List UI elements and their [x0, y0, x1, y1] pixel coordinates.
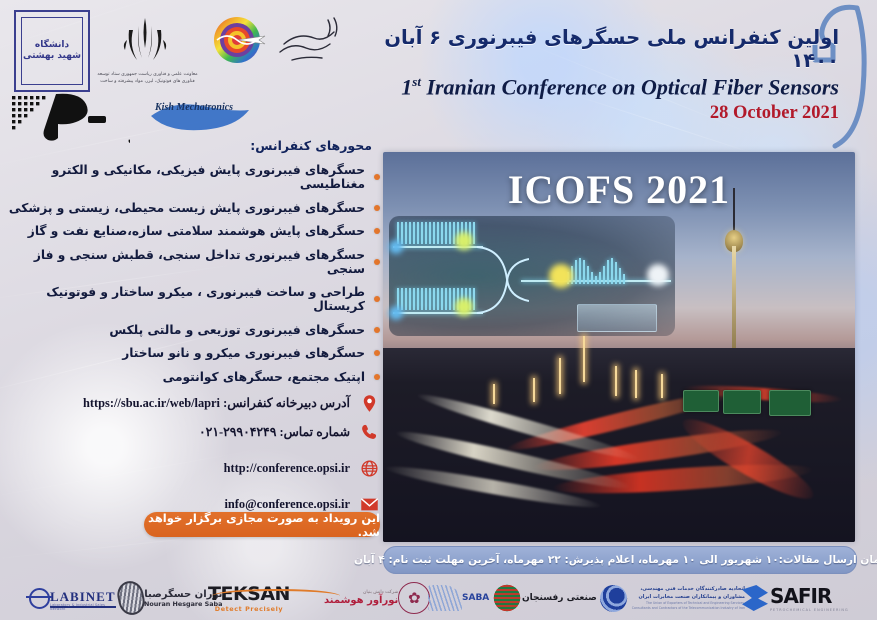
- light-glow-4: [647, 264, 669, 286]
- streetlamp: [533, 378, 535, 402]
- highway-sign: [769, 390, 811, 416]
- saba-name: SABA: [462, 593, 489, 603]
- topic-item: حسگرهای فیبرنوری پایش فیزیکی، مکانیکی و …: [8, 163, 380, 191]
- sponsor-labinet: LABINET Laboratory & Industrial Sales Ne…: [28, 576, 116, 620]
- contacts-list: آدرس دبیرخانه کنفرانس: https://sbu.ac.ir…: [8, 392, 380, 515]
- title-ordinal-number: 1: [401, 74, 412, 99]
- topic-bullet-icon: [374, 327, 380, 333]
- streetlamp: [559, 358, 561, 394]
- light-glow-3: [549, 264, 573, 288]
- topic-label: اپتیک مجتمع، حسگرهای کوانتومی: [163, 370, 365, 384]
- contact-row[interactable]: http://conference.opsi.ir: [8, 457, 380, 479]
- streetlamp: [615, 366, 617, 396]
- topic-item: اپتیک مجتمع، حسگرهای کوانتومی: [8, 370, 380, 384]
- light-glow-2: [455, 298, 473, 316]
- topic-bullet-icon: [374, 296, 380, 302]
- svg-text:Kish Mechatronics: Kish Mechatronics: [154, 102, 233, 113]
- red-light-trail: [676, 409, 821, 510]
- phone-icon: [358, 421, 380, 443]
- photonic-chip-illustration: [389, 216, 675, 336]
- topic-label: حسگرهای پایش هوشمند سلامتی سازه،صنایع نف…: [28, 224, 365, 238]
- topics-heading: محورهای کنفرانس:: [8, 138, 372, 153]
- topic-bullet-icon: [374, 174, 380, 180]
- topic-item: طراحی و ساخت فیبرنوری ، میکرو ساختار و ف…: [8, 285, 380, 313]
- sponsor-safir: SAFIR PETROCHEMICAL ENGINEERING: [742, 576, 849, 620]
- night-highway-scene: [383, 348, 855, 542]
- topic-bullet-icon: [374, 205, 380, 211]
- header-logo-bar: دانشگاه شهید بهشتی معاونت علمی و فناوری …: [0, 0, 420, 150]
- sponsor-saba: SABA: [428, 576, 492, 620]
- contact-row: شماره تماس: ۰۲۱-۲۹۹۰۴۲۴۹: [8, 421, 380, 443]
- title-ordinal-suffix: st: [412, 74, 421, 89]
- topic-bullet-icon: [374, 228, 380, 234]
- poster-photo: ICOFS 2021: [383, 152, 855, 542]
- sponsor-union-telecom-exporters: اتحادیه صادرکنندگان خدمات فنی مهندسی، مش…: [600, 576, 750, 620]
- deadline-bar: زمان ارسال مقالات:۱۰ شهریور الی ۱۰ مهرما…: [383, 546, 857, 574]
- logo-kish-mechatronics: Kish Mechatronics: [145, 94, 255, 140]
- labinet-mark-icon: [29, 588, 50, 609]
- micrometer-caliper-illustration: [577, 304, 657, 332]
- topic-bullet-icon: [374, 259, 380, 265]
- logo-optics-and-photonics-society-of-iran: [205, 8, 269, 72]
- labinet-subtitle: Laboratory & Industrial Sales Network: [50, 603, 116, 611]
- nouran-coil-icon: [115, 579, 148, 618]
- safir-name: SAFIR: [770, 584, 849, 608]
- conference-date: 28 October 2021: [359, 103, 839, 124]
- topics-list: حسگرهای فیبرنوری پایش فیزیکی، مکانیکی و …: [8, 163, 380, 384]
- union-line-2: مشاوران و پیمانکاران صنعت مخابرات ایران: [627, 593, 745, 601]
- globe-icon: [358, 457, 380, 479]
- conference-poster: دانشگاه شهید بهشتی معاونت علمی و فناوری …: [0, 0, 877, 620]
- contact-text: http://conference.opsi.ir: [224, 461, 350, 476]
- contact-value: ۰۲۱-۲۹۹۰۴۲۴۹: [199, 424, 276, 440]
- topic-item: حسگرهای فیبرنوری تداخل سنجی، قطبش سنجی و…: [8, 248, 380, 276]
- union-line-3: The Union of Exporters of Technical and …: [627, 601, 745, 611]
- logo-iran-presidency-emblem: [115, 14, 175, 72]
- topic-label: حسگرهای فیبرنوری پایش زیست محیطی، زیستی …: [9, 201, 365, 215]
- title-english-text: Iranian Conference on Optical Fiber Sens…: [426, 74, 839, 99]
- contact-value[interactable]: info@conference.opsi.ir: [224, 497, 350, 512]
- topic-bullet-icon: [374, 374, 380, 380]
- topic-label: حسگرهای فیبرنوری توزیعی و مالتی پلکس: [109, 323, 365, 337]
- topic-item: حسگرهای فیبرنوری میکرو و نانو ساختار: [8, 346, 380, 360]
- conference-title-block: اولین کنفرانس ملی حسگرهای فیبرنوری ۶ آبا…: [359, 26, 839, 124]
- contact-row: آدرس دبیرخانه کنفرانس: https://sbu.ac.ir…: [8, 392, 380, 414]
- contact-text: info@conference.opsi.ir: [224, 497, 350, 512]
- light-glow-5: [389, 240, 403, 254]
- saba-fan-icon: [428, 585, 462, 611]
- contact-value[interactable]: http://conference.opsi.ir: [224, 461, 350, 476]
- topic-label: حسگرهای فیبرنوری میکرو و نانو ساختار: [122, 346, 365, 360]
- topic-item: حسگرهای فیبرنوری پایش زیست محیطی، زیستی …: [8, 201, 380, 215]
- rafsanjan-mark-icon: [492, 583, 522, 613]
- contact-value: https://sbu.ac.ir/web/lapri: [83, 396, 220, 411]
- topic-bullet-icon: [374, 350, 380, 356]
- streetlamp: [493, 384, 495, 404]
- presidency-emblem-caption: معاونت علمی و فناوری ریاست جمهوری ستاد ت…: [95, 72, 200, 86]
- safir-mark-icon: [742, 585, 768, 611]
- safir-subtitle: PETROCHEMICAL ENGINEERING: [770, 608, 849, 612]
- topic-item: حسگرهای فیبرنوری توزیعی و مالتی پلکس: [8, 323, 380, 337]
- topic-item: حسگرهای پایش هوشمند سلامتی سازه،صنایع نف…: [8, 224, 380, 238]
- contact-label: آدرس دبیرخانه کنفرانس:: [220, 396, 350, 410]
- teksan-subtitle: Detect Precisely: [208, 605, 290, 613]
- title-persian: اولین کنفرانس ملی حسگرهای فیبرنوری ۶ آبا…: [359, 26, 839, 72]
- light-glow-6: [389, 306, 403, 320]
- highway-sign: [723, 390, 761, 414]
- contact-text: آدرس دبیرخانه کنفرانس: https://sbu.ac.ir…: [83, 395, 350, 411]
- contact-label: شماره تماس:: [276, 425, 350, 439]
- highway-sign: [683, 390, 719, 412]
- union-line-1: اتحادیه صادرکنندگان خدمات فنی مهندسی،: [627, 585, 745, 593]
- streetlamp: [635, 370, 637, 398]
- logo-iranian-association: [272, 10, 346, 72]
- location-pin-icon: [358, 392, 380, 414]
- photo-overlay-title: ICOFS 2021: [383, 166, 855, 213]
- streetlamp: [661, 374, 663, 398]
- tower-spire: [733, 188, 735, 234]
- virtual-event-banner: این رویداد به صورت مجازی برگزار خواهد شد…: [144, 512, 380, 537]
- streetlamp: [583, 336, 585, 382]
- logo-rayan-fan: رایان فن: [10, 92, 130, 144]
- sbu-logo-text: دانشگاه شهید بهشتی: [21, 17, 83, 85]
- y-junction-coupler: [477, 240, 529, 320]
- contact-information-section: آدرس دبیرخانه کنفرانس: https://sbu.ac.ir…: [8, 392, 380, 522]
- logo-shahid-beheshti-university: دانشگاه شهید بهشتی: [14, 10, 90, 92]
- topic-label: طراحی و ساخت فیبرنوری ، میکرو ساختار و ف…: [8, 285, 365, 313]
- topic-label: حسگرهای فیبرنوری پایش فیزیکی، مکانیکی و …: [8, 163, 365, 191]
- nooravar-name: نورآور هوشمند: [324, 595, 398, 606]
- title-english: 1st Iranian Conference on Optical Fiber …: [359, 74, 839, 100]
- conference-topics-section: محورهای کنفرانس: حسگرهای فیبرنوری پایش ف…: [8, 138, 380, 393]
- sponsor-teksan: TEKSAN Detect Precisely: [208, 576, 290, 620]
- topic-label: حسگرهای فیبرنوری تداخل سنجی، قطبش سنجی و…: [8, 248, 365, 276]
- union-mark-icon: [600, 585, 627, 612]
- sponsor-nooravar-hooshmand: شرکت دانش بنیان نورآور هوشمند ✿: [320, 576, 430, 620]
- light-glow-1: [455, 232, 473, 250]
- footer-sponsor-bar: LABINET Laboratory & Industrial Sales Ne…: [0, 576, 877, 620]
- interference-pattern: [567, 258, 625, 284]
- contact-text: شماره تماس: ۰۲۱-۲۹۹۰۴۲۴۹: [199, 424, 350, 440]
- nooravar-emblem-icon: ✿: [398, 582, 430, 614]
